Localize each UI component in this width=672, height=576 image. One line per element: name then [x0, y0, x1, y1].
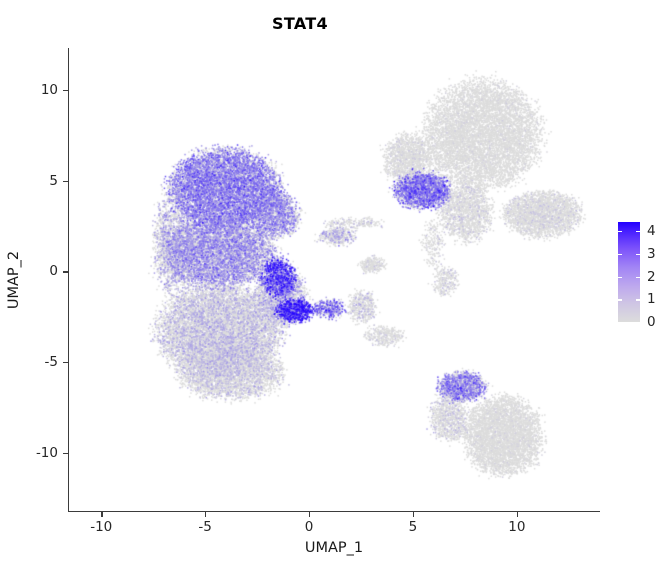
x-tick-mark	[517, 512, 518, 517]
y-tick-mark	[63, 271, 68, 272]
y-tick-mark	[63, 362, 68, 363]
colorbar-tick-mark	[636, 277, 640, 278]
y-tick-label: 0	[49, 263, 58, 279]
x-tick-mark	[205, 512, 206, 517]
colorbar-tick-label: 4	[647, 223, 656, 239]
x-tick-mark	[101, 512, 102, 517]
colorbar-gradient	[618, 222, 640, 322]
x-axis-label: UMAP_1	[305, 540, 363, 556]
x-tick-label: -5	[198, 519, 211, 535]
x-tick-label: 0	[305, 519, 314, 535]
y-tick-label: -10	[36, 445, 58, 461]
colorbar-tick-label: 0	[647, 314, 656, 330]
colorbar-tick-mark	[618, 299, 622, 300]
colorbar-tick-mark	[636, 231, 640, 232]
y-axis-label: UMAP_2	[6, 251, 22, 309]
x-tick-mark	[413, 512, 414, 517]
y-tick-mark	[63, 181, 68, 182]
y-tick-label: 10	[41, 82, 58, 98]
colorbar-tick-mark	[618, 231, 622, 232]
x-axis-spine	[68, 511, 600, 512]
y-tick-mark	[63, 453, 68, 454]
y-tick-label: 5	[49, 173, 58, 189]
x-tick-label: 10	[508, 519, 525, 535]
umap-feature-plot: STAT4 -10-50510 1050-5-10 UMAP_1 UMAP_2 …	[0, 0, 672, 576]
colorbar-tick-mark	[618, 322, 622, 323]
colorbar-tick-mark	[636, 299, 640, 300]
x-tick-mark	[309, 512, 310, 517]
colorbar-tick-label: 2	[647, 269, 656, 285]
x-tick-label: 5	[409, 519, 418, 535]
y-tick-mark	[63, 90, 68, 91]
colorbar-tick-label: 1	[647, 291, 656, 307]
colorbar-tick-mark	[618, 277, 622, 278]
x-tick-label: -10	[90, 519, 112, 535]
colorbar-tick-mark	[618, 254, 622, 255]
colorbar-tick-mark	[636, 322, 640, 323]
y-tick-label: -5	[45, 354, 58, 370]
colorbar-tick-mark	[636, 254, 640, 255]
y-axis-spine	[68, 48, 69, 512]
scatter-plot-canvas	[0, 0, 672, 576]
colorbar-tick-label: 3	[647, 246, 656, 262]
